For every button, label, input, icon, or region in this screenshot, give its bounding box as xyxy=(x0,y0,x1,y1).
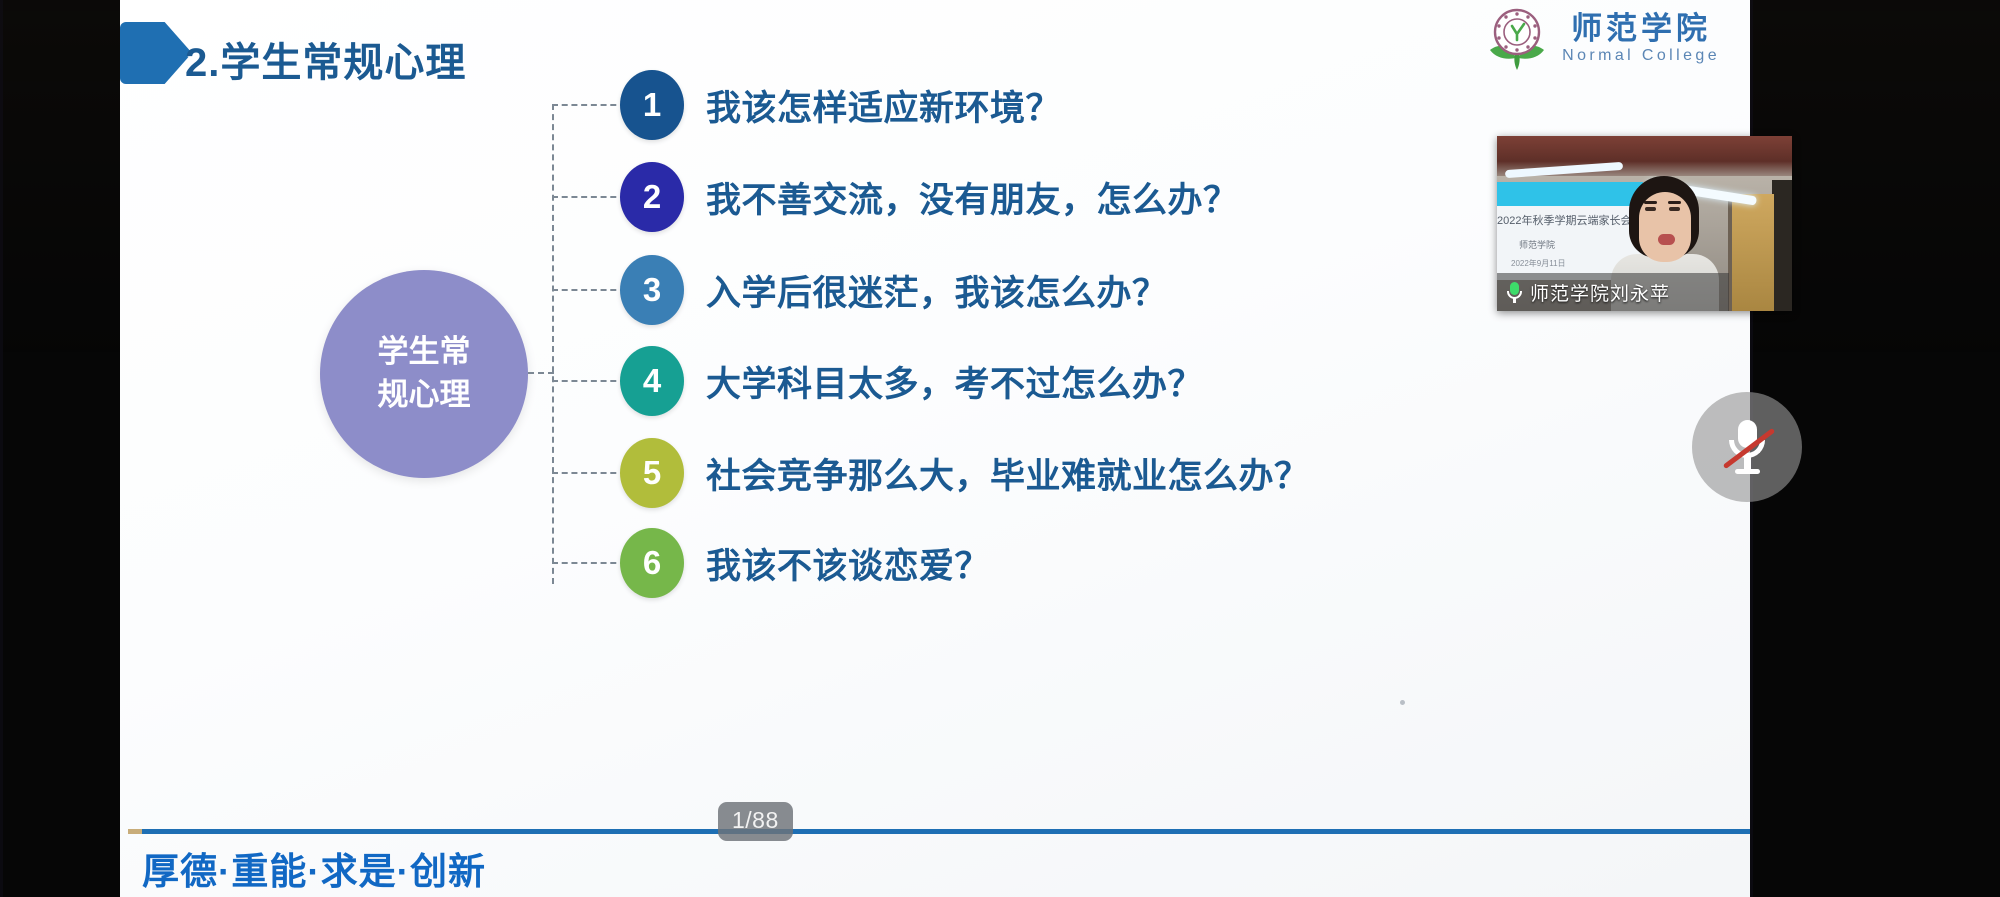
list-item: 3 入学后很迷茫，我该怎么办？ xyxy=(620,254,1168,326)
person-eye xyxy=(1669,207,1680,211)
connector-hub-stub xyxy=(528,372,554,374)
participant-video-tile[interactable]: 2022年秋季学期云端家长会 师范学院 2022年9月11日 师范学院刘永苹 xyxy=(1497,136,1792,311)
person-mouth xyxy=(1658,234,1675,245)
connector-branch-4 xyxy=(552,380,626,382)
list-item-label: 我该怎样适应新环境？ xyxy=(706,80,1061,131)
participant-name-bar: 师范学院刘永苹 xyxy=(1497,273,1729,311)
bullet-number-1: 1 xyxy=(620,70,684,140)
seal-emblem-icon xyxy=(1484,6,1550,72)
person-brow xyxy=(1644,201,1657,204)
title-arrow-shape xyxy=(120,22,192,84)
logo-chinese-name: 师范学院 xyxy=(1571,13,1711,46)
projection-line-2: 师范学院 xyxy=(1519,238,1555,251)
shared-slide: 2.学生常规心理 xyxy=(120,0,1750,897)
bullet-number-2: 2 xyxy=(620,162,684,232)
screen-root: 2.学生常规心理 xyxy=(0,0,2000,897)
list-item: 6 我该不该谈恋爱？ xyxy=(620,527,990,599)
letterbox-left xyxy=(0,0,120,897)
page-title: 2.学生常规心理 xyxy=(185,30,466,88)
bullet-number-5: 5 xyxy=(620,438,684,508)
connector-branch-3 xyxy=(552,289,626,291)
list-item-label: 大学科目太多，考不过怎么办？ xyxy=(706,356,1203,407)
microphone-muted-icon xyxy=(1728,420,1766,474)
list-item-label: 我不善交流，没有朋友，怎么办？ xyxy=(706,172,1239,223)
hub-line-1: 学生常 xyxy=(378,331,471,374)
connector-branch-5 xyxy=(552,472,626,474)
person-brow xyxy=(1668,201,1681,204)
college-logo: 师范学院 Normal College xyxy=(1484,6,1720,72)
list-item: 2 我不善交流，没有朋友，怎么办？ xyxy=(620,161,1239,233)
connector-branch-6 xyxy=(552,562,626,564)
connector-branch-1 xyxy=(552,104,626,106)
diagram-hub-circle: 学生常 规心理 xyxy=(320,270,528,478)
list-item: 1 我该怎样适应新环境？ xyxy=(620,69,1061,141)
slide-artifact-dot xyxy=(1400,700,1405,705)
microphone-active-icon xyxy=(1507,282,1522,303)
list-item-label: 入学后很迷茫，我该怎么办？ xyxy=(706,265,1168,316)
mute-microphone-button[interactable] xyxy=(1692,392,1802,502)
bullet-number-3: 3 xyxy=(620,255,684,325)
footer-motto: 厚德·重能·求是·创新 xyxy=(142,841,486,895)
letterbox-noise xyxy=(0,0,120,897)
video-dark-edge xyxy=(1772,180,1792,311)
page-indicator: 1/88 xyxy=(718,802,793,841)
list-item: 5 社会竞争那么大，毕业难就业怎么办？ xyxy=(620,437,1310,509)
person-eye xyxy=(1645,207,1656,211)
bullet-number-6: 6 xyxy=(620,528,684,598)
projection-line-3: 2022年9月11日 xyxy=(1511,258,1566,269)
video-door xyxy=(1728,194,1774,311)
participant-name: 师范学院刘永苹 xyxy=(1530,279,1670,306)
connector-trunk xyxy=(552,104,554,584)
hub-line-2: 规心理 xyxy=(378,374,471,417)
list-item: 4 大学科目太多，考不过怎么办？ xyxy=(620,345,1203,417)
connector-branch-2 xyxy=(552,196,626,198)
logo-english-name: Normal College xyxy=(1562,47,1720,65)
list-item-label: 我该不该谈恋爱？ xyxy=(706,538,990,589)
logo-text-block: 师范学院 Normal College xyxy=(1562,13,1720,66)
list-item-label: 社会竞争那么大，毕业难就业怎么办？ xyxy=(706,448,1310,499)
footer-divider xyxy=(128,829,1750,834)
bullet-number-4: 4 xyxy=(620,346,684,416)
